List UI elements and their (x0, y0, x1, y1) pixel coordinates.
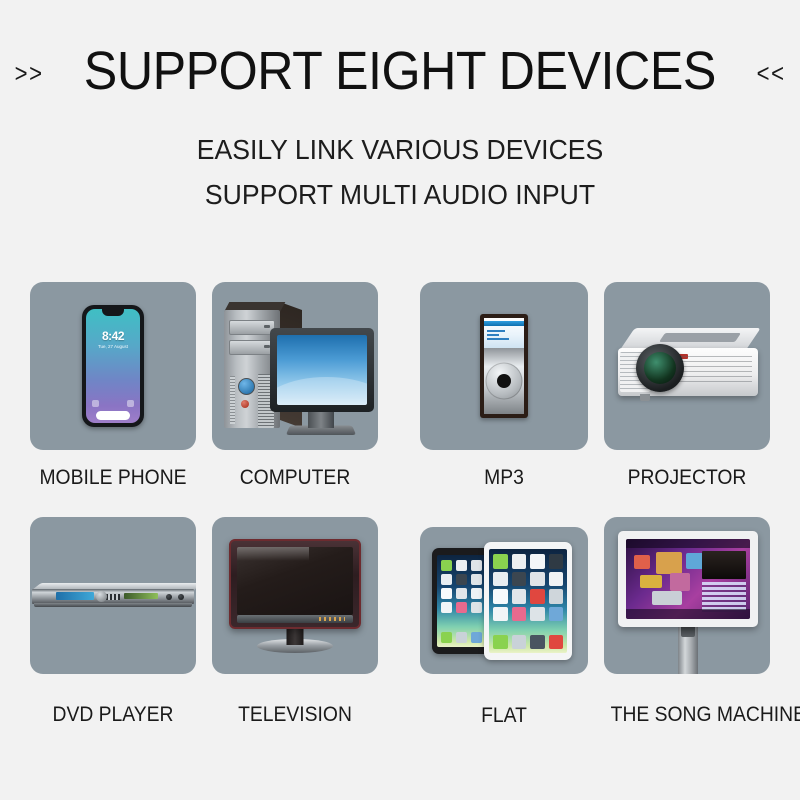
device-cell-mobile-phone[interactable]: 8:42 Tue, 27 August MOBILE PHONE (30, 282, 196, 490)
device-tile-mp3[interactable] (420, 282, 588, 450)
page-title-row: >> SUPPORT EIGHT DEVICES << (0, 44, 800, 98)
device-cell-mp3[interactable]: MP3 (420, 282, 588, 490)
device-cell-the-song-machine[interactable]: THE SONG MACHINE (604, 517, 770, 727)
device-tile-dvd-player[interactable] (30, 517, 196, 674)
desktop-computer-icon (216, 290, 378, 445)
device-cell-projector[interactable]: PROJECTOR (604, 282, 770, 490)
television-icon (229, 539, 361, 651)
tablet-icon (432, 542, 582, 660)
device-row-1: 8:42 Tue, 27 August MOBILE PHONE (0, 270, 800, 515)
device-label-projector: PROJECTOR (611, 466, 764, 490)
device-label-television: TELEVISION (219, 703, 372, 727)
device-row-2: DVD PLAYER TELEVISION (0, 515, 800, 760)
device-label-the-song-machine: THE SONG MACHINE (611, 703, 764, 727)
phone-lockscreen-date: Tue, 27 August (86, 344, 140, 349)
device-cell-flat[interactable]: FLAT (420, 527, 588, 728)
projector-icon (614, 328, 762, 406)
dvd-player-icon (32, 583, 194, 609)
page-title: SUPPORT EIGHT DEVICES (84, 44, 716, 98)
device-tile-projector[interactable] (604, 282, 770, 450)
karaoke-kiosk-icon (618, 531, 758, 674)
header: >> SUPPORT EIGHT DEVICES << EASILY LINK … (0, 0, 800, 211)
device-tile-the-song-machine[interactable] (604, 517, 770, 674)
device-label-mp3: MP3 (427, 466, 582, 490)
left-chevrons-icon: >> (14, 60, 43, 86)
device-label-flat: FLAT (427, 704, 582, 728)
mp3-player-icon (480, 314, 528, 418)
device-grid: 8:42 Tue, 27 August MOBILE PHONE (0, 270, 800, 760)
device-tile-computer[interactable] (212, 282, 378, 450)
device-cell-dvd-player[interactable]: DVD PLAYER (30, 517, 196, 727)
device-label-mobile-phone: MOBILE PHONE (37, 466, 190, 490)
phone-lockscreen-time: 8:42 (86, 329, 140, 343)
device-cell-television[interactable]: TELEVISION (212, 517, 378, 727)
device-label-computer: COMPUTER (219, 466, 372, 490)
device-cell-computer[interactable]: COMPUTER (212, 282, 378, 490)
device-tile-television[interactable] (212, 517, 378, 674)
subtitle-line-2: SUPPORT MULTI AUDIO INPUT (20, 179, 780, 211)
device-tile-mobile-phone[interactable]: 8:42 Tue, 27 August (30, 282, 196, 450)
device-label-dvd-player: DVD PLAYER (37, 703, 190, 727)
smartphone-icon: 8:42 Tue, 27 August (82, 305, 144, 427)
subtitle-line-1: EASILY LINK VARIOUS DEVICES (20, 134, 780, 166)
device-tile-flat[interactable] (420, 527, 588, 674)
right-chevrons-icon: << (756, 60, 785, 86)
